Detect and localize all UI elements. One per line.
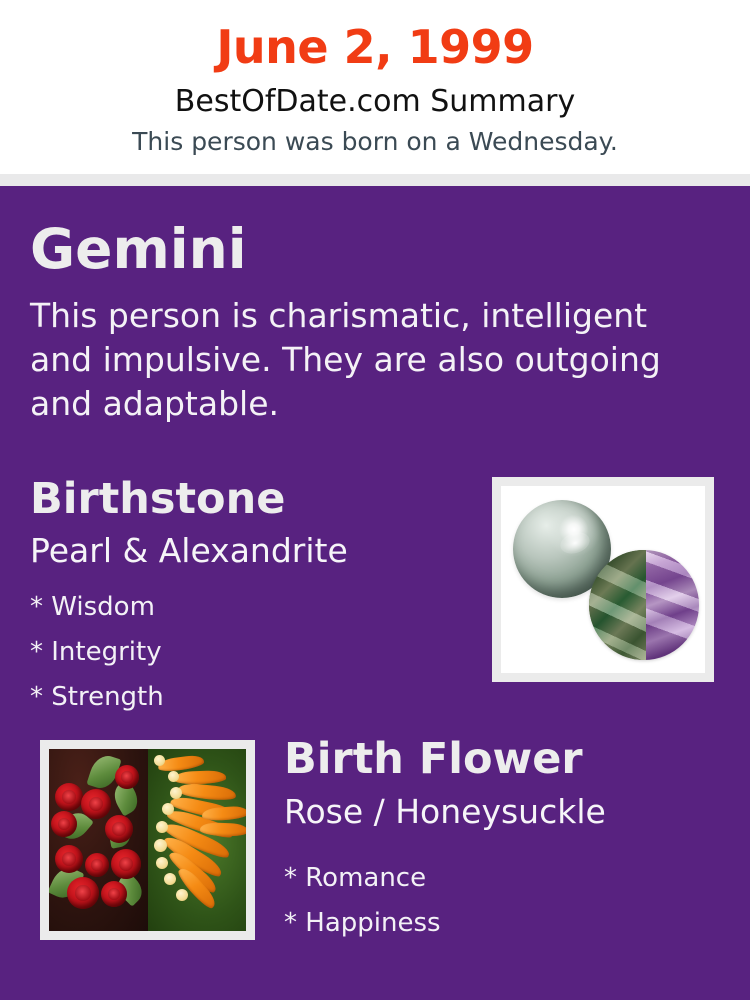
zodiac-sign-name: Gemini	[30, 222, 247, 277]
list-item: * Integrity	[30, 630, 460, 675]
honeysuckle-tube-icon	[173, 770, 225, 785]
page-title: June 2, 1999	[0, 22, 750, 73]
birth-flower-photo-frame	[40, 740, 255, 940]
honeysuckle-tube-icon	[199, 822, 246, 837]
rose-bloom-icon	[101, 881, 127, 907]
rose-bloom-icon	[51, 811, 77, 837]
rose-bloom-icon	[115, 765, 139, 789]
alexandrite-purple-facet	[646, 550, 699, 660]
rose-bloom-icon	[85, 853, 109, 877]
birth-flower-image	[49, 749, 246, 931]
rose-bloom-icon	[111, 849, 141, 879]
rose-bloom-icon	[105, 815, 133, 843]
roses-photo-half	[49, 749, 148, 931]
list-item: * Romance	[284, 856, 704, 901]
birthstone-image	[501, 486, 705, 673]
birthstone-names: Pearl & Alexandrite	[30, 534, 348, 567]
birth-flower-names: Rose / Honeysuckle	[284, 795, 606, 828]
rose-bloom-icon	[67, 877, 99, 909]
rose-bloom-icon	[81, 789, 111, 819]
birth-flower-trait-list: * Romance * Happiness	[284, 856, 704, 946]
header: June 2, 1999 BestOfDate.com Summary This…	[0, 0, 750, 174]
alexandrite-green-facet	[589, 550, 646, 660]
birth-day-note: This person was born on a Wednesday.	[0, 128, 750, 156]
birthstone-heading: Birthstone	[30, 478, 285, 521]
alexandrite-gem-icon	[589, 550, 699, 660]
honeysuckle-photo-half	[148, 749, 247, 931]
birth-flower-heading: Birth Flower	[284, 738, 583, 781]
summary-card: June 2, 1999 BestOfDate.com Summary This…	[0, 0, 750, 1000]
list-item: * Wisdom	[30, 585, 460, 630]
site-subtitle: BestOfDate.com Summary	[0, 85, 750, 118]
list-item: * Happiness	[284, 901, 704, 946]
header-divider	[0, 174, 750, 186]
list-item: * Strength	[30, 675, 460, 720]
rose-bloom-icon	[55, 783, 83, 811]
birthstone-trait-list: * Wisdom * Integrity * Strength	[30, 585, 460, 720]
birthstone-photo-frame	[492, 477, 714, 682]
rose-bloom-icon	[55, 845, 83, 873]
zodiac-description: This person is charismatic, intelligent …	[30, 294, 702, 426]
